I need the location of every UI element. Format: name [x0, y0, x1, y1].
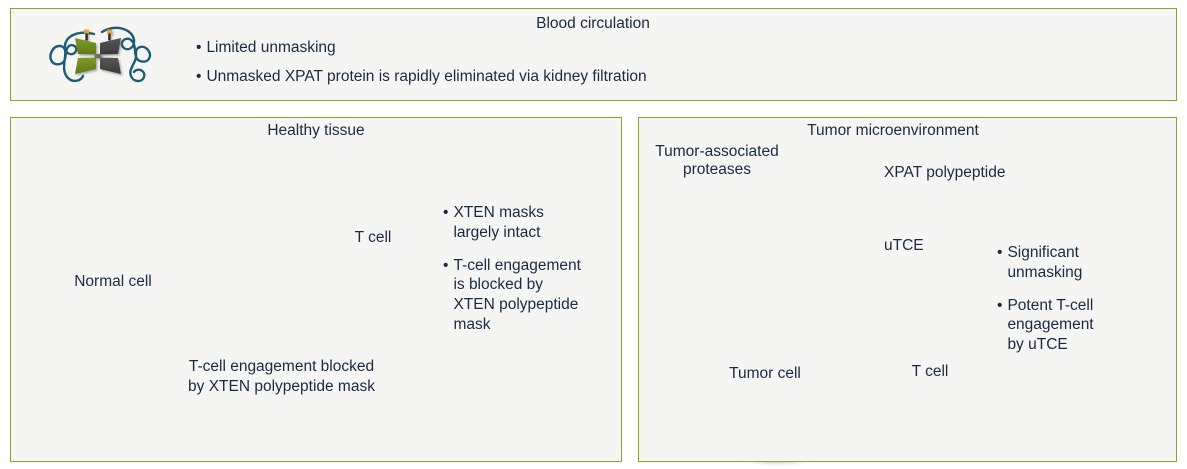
- bullet-dot-icon: •: [997, 296, 1002, 316]
- tumor-tcell-label: T cell: [902, 362, 958, 382]
- tumor-microenvironment-bullets: • Significant unmasking • Potent T-cell …: [997, 243, 1147, 355]
- bullet-dot-icon: •: [997, 243, 1002, 263]
- healthy-bullet-item: • XTEN masks largely intact: [443, 203, 613, 243]
- healthy-bullet-item: • T-cell engagement is blocked by XTEN p…: [443, 256, 613, 335]
- bullet-dot-icon: •: [196, 38, 201, 58]
- healthy-bullet-text: XTEN masks largely intact: [453, 203, 613, 243]
- tumor-bullet-text: Significant unmasking: [1007, 243, 1147, 283]
- healthy-tcell-label: T cell: [345, 228, 401, 248]
- banner-title: Blood circulation: [418, 14, 768, 34]
- tumor-microenvironment-title: Tumor microenvironment: [758, 121, 1028, 141]
- tumor-bullet-item: • Significant unmasking: [997, 243, 1147, 283]
- healthy-tissue-bullets: • XTEN masks largely intact • T-cell eng…: [443, 203, 613, 335]
- normal-cell-label: Normal cell: [63, 272, 163, 292]
- bullet-dot-icon: •: [443, 203, 448, 223]
- banner-bullet-item: • Unmasked XPAT protein is rapidly elimi…: [196, 67, 956, 87]
- healthy-tissue-title: Healthy tissue: [216, 121, 416, 141]
- banner-bullet-text: Limited unmasking: [206, 38, 956, 58]
- utce-label: uTCE: [884, 237, 954, 255]
- tumor-cell-label: Tumor cell: [710, 364, 820, 384]
- healthy-bullet-text: T-cell engagement is blocked by XTEN pol…: [453, 256, 613, 335]
- bullet-dot-icon: •: [443, 256, 448, 276]
- xpat-polypeptide-label: XPAT polypeptide: [884, 164, 1044, 182]
- banner-bullets: • Limited unmasking • Unmasked XPAT prot…: [196, 38, 956, 87]
- banner-bullet-text: Unmasked XPAT protein is rapidly elimina…: [206, 67, 956, 87]
- banner-bullet-item: • Limited unmasking: [196, 38, 956, 58]
- protease-label: Tumor-associated proteases: [641, 143, 793, 179]
- bullet-dot-icon: •: [196, 67, 201, 87]
- tumor-bullet-item: • Potent T-cell engagement by uTCE: [997, 296, 1147, 355]
- healthy-tissue-caption: T-cell engagement blocked by XTEN polype…: [134, 357, 429, 397]
- tumor-bullet-text: Potent T-cell engagement by uTCE: [1007, 296, 1147, 355]
- xpat-mechanism-diagram: Blood circulation • Limited unmasking • …: [0, 0, 1187, 469]
